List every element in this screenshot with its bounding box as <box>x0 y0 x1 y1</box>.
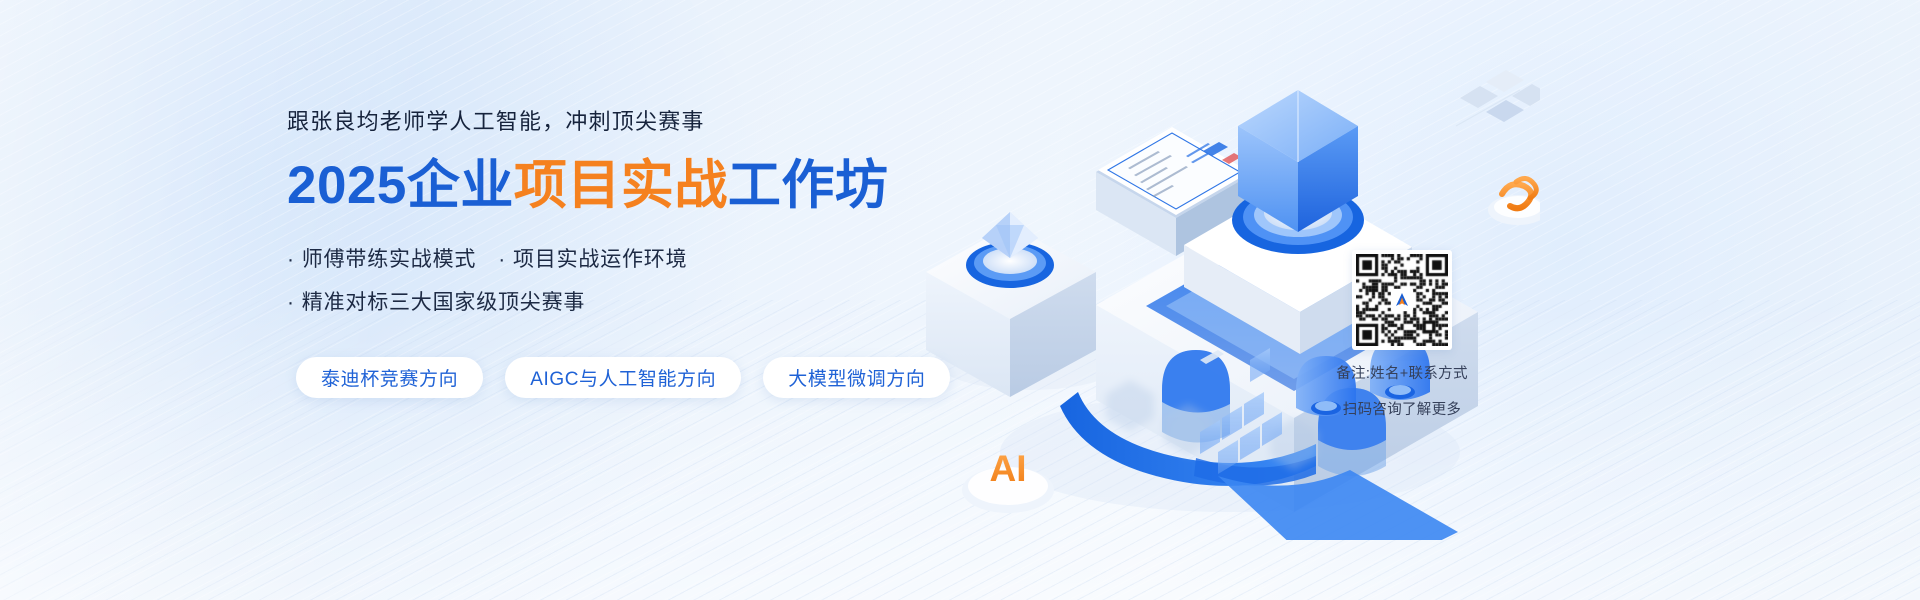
illustration-ai-label: AI <box>990 448 1027 489</box>
illustration-orange-ornament <box>1488 178 1540 225</box>
feature-bullet-row: · 精准对标三大国家级顶尖赛事 <box>287 291 927 314</box>
qr-caption-line-2: 扫码咨询了解更多 <box>1336 399 1468 422</box>
banner-subtitle: 跟张良均老师学人工智能，冲刺顶尖赛事 <box>287 106 927 138</box>
feature-bullet-text: 精准对标三大国家级顶尖赛事 <box>302 291 585 314</box>
feature-bullet-text: 师傅带练实战模式 <box>302 248 476 271</box>
tag-taidi-cup[interactable]: 泰迪杯竞赛方向 <box>296 357 483 398</box>
feature-bullet-row: · 师傅带练实战模式 · 项目实战运作环境 <box>287 248 927 271</box>
banner-title: 2025企业项目实战工作坊 <box>287 154 927 218</box>
illustration-cross-decoration <box>1456 70 1540 126</box>
qr-logo-icon <box>1391 289 1413 311</box>
bullet-dot-icon-2: · <box>498 248 506 271</box>
qr-caption-line-1: 备注:姓名+联系方式 <box>1336 363 1468 386</box>
feature-bullet-list: · 师傅带练实战模式 · 项目实战运作环境 · 精准对标三大国家级顶尖赛事 <box>287 248 927 314</box>
qr-code-block: 备注:姓名+联系方式 扫码咨询了解更多 <box>1336 250 1468 422</box>
bullet-dot-icon: · <box>287 248 295 271</box>
promo-banner: AI 跟张良均老师学人工智能，冲刺顶尖赛事 2025企业项目实战工作坊 · 师傅… <box>0 0 1920 600</box>
feature-bullet-text-2: 项目实战运作环境 <box>513 248 687 271</box>
title-segment-3: 工作坊 <box>728 156 889 215</box>
banner-copy: 跟张良均老师学人工智能，冲刺顶尖赛事 2025企业项目实战工作坊 · 师傅带练实… <box>287 106 927 314</box>
tag-aigc-ai[interactable]: AIGC与人工智能方向 <box>505 357 741 398</box>
bullet-dot-icon: · <box>287 291 295 314</box>
title-segment-1: 2025企业 <box>287 156 514 215</box>
title-segment-2: 项目实战 <box>514 156 728 215</box>
direction-tag-list: 泰迪杯竞赛方向 AIGC与人工智能方向 大模型微调方向 <box>296 357 950 398</box>
tag-llm-finetune[interactable]: 大模型微调方向 <box>763 357 950 398</box>
qr-code-frame[interactable] <box>1352 250 1452 350</box>
